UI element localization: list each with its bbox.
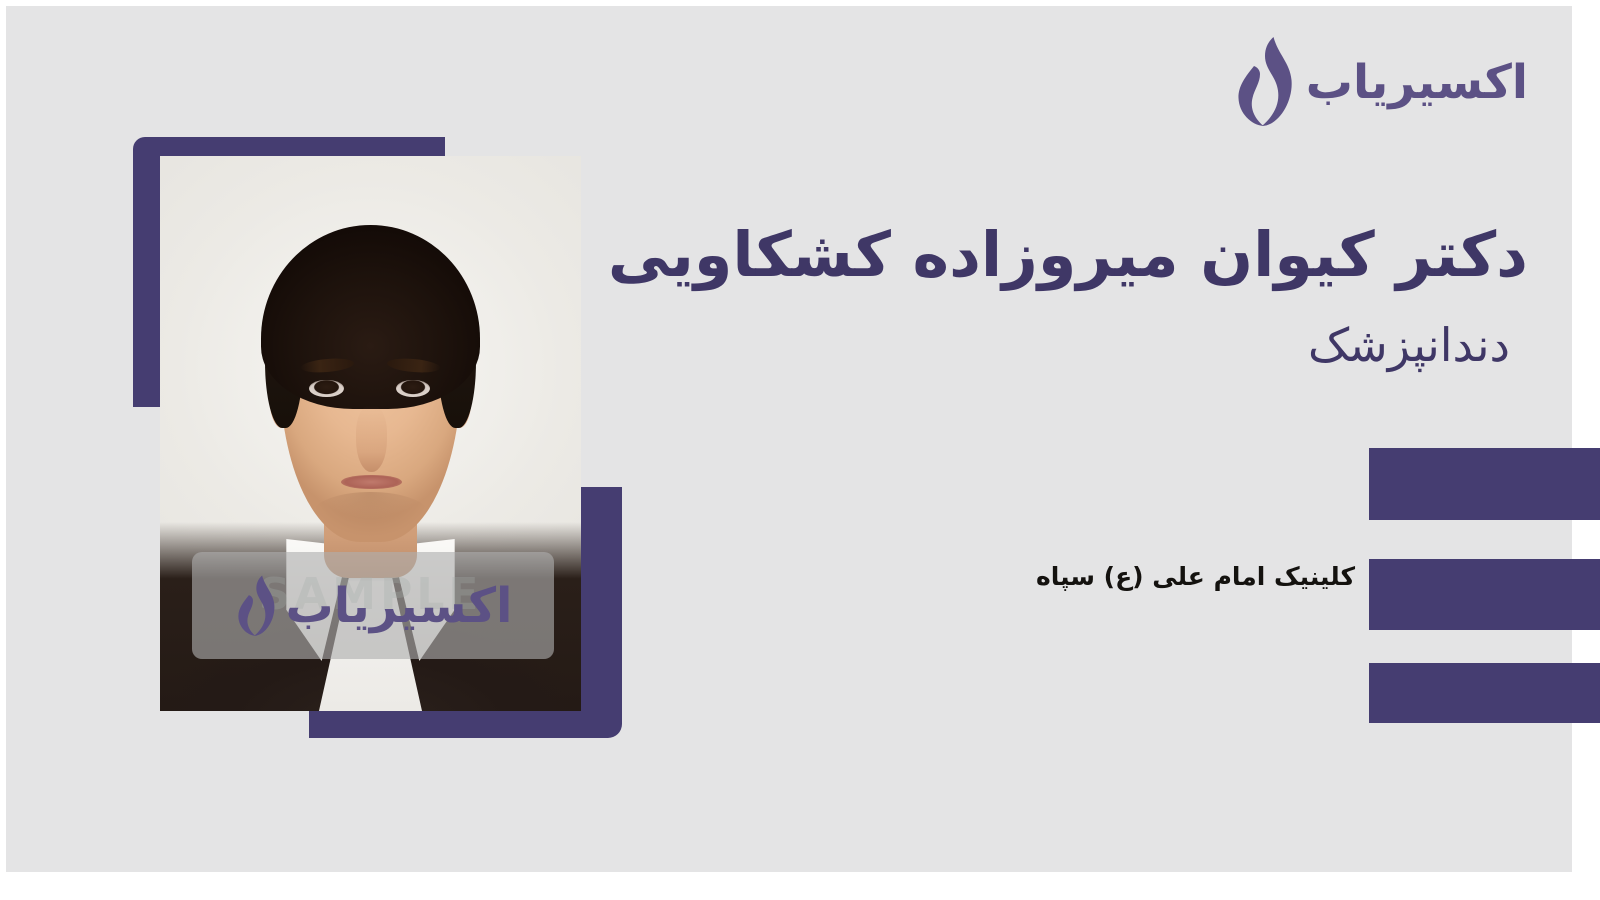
- clinic-name: کلینیک امام علی (ع) سپاه: [1036, 562, 1355, 592]
- doctor-specialty: دندانپزشک: [1308, 318, 1510, 373]
- doctor-name: دکتر کیوان میروزاده کشکاویی: [588, 218, 1528, 291]
- decor-bar-bottom: [1369, 663, 1600, 723]
- brand-logo[interactable]: اکسیریاب: [1232, 36, 1528, 128]
- photo-watermark-bar: اکسیریاب: [192, 552, 554, 659]
- watermark-flame-droplet-icon: [234, 574, 276, 638]
- flame-droplet-icon: [1232, 36, 1294, 128]
- brand-name-label: اکسیریاب: [1306, 59, 1528, 106]
- watermark-brand-label: اکسیریاب: [286, 582, 513, 630]
- profile-card-stage: اکسیریاب دکتر کیوان میروزاده کشکاویی دند…: [0, 0, 1600, 900]
- decor-bar-middle: [1369, 559, 1600, 630]
- decor-bar-top: [1369, 448, 1600, 520]
